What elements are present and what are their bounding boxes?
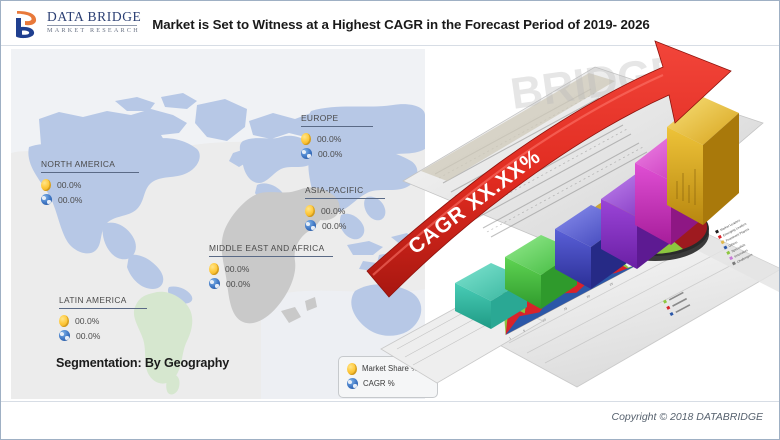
infographic-page: DATA BRIDGE MARKET RESEARCH Market is Se… <box>0 0 780 440</box>
map-label-middle-east-and-africa[interactable]: MIDDLE EAST AND AFRICA 00.0% 00.0% <box>209 243 333 292</box>
business-growth-graphic: BRIDGE 1510 152025 <box>363 31 780 411</box>
data-bridge-b-mark-icon <box>13 9 43 39</box>
region-market-share-value: 00.0% <box>321 206 345 216</box>
region-cagr-value: 00.0% <box>58 195 82 205</box>
region-market-share-row: 00.0% <box>41 178 139 191</box>
blue-globe-icon <box>305 220 316 231</box>
copyright-text: Copyright © 2018 DATABRIDGE <box>612 411 764 423</box>
brand-wordmark: DATA BRIDGE MARKET RESEARCH <box>47 10 139 35</box>
gold-coin-icon <box>59 315 69 327</box>
segmentation-label: Segmentation: By Geography <box>56 356 229 370</box>
region-cagr-row: 00.0% <box>59 329 147 342</box>
region-name: NORTH AMERICA <box>41 159 139 172</box>
gold-coin-icon <box>347 363 357 375</box>
region-market-share-value: 00.0% <box>225 264 249 274</box>
gold-coin-icon <box>41 179 51 191</box>
region-cagr-value: 00.0% <box>318 149 342 159</box>
region-market-share-value: 00.0% <box>317 134 341 144</box>
blue-globe-icon <box>41 194 52 205</box>
map-label-north-america[interactable]: NORTH AMERICA 00.0% 00.0% <box>41 159 139 208</box>
growth-illustration: BRIDGE 1510 152025 <box>363 31 780 411</box>
blue-globe-icon <box>301 148 312 159</box>
region-cagr-value: 00.0% <box>76 331 100 341</box>
gold-coin-icon <box>305 205 315 217</box>
brand-divider <box>47 25 137 26</box>
blue-globe-icon <box>59 330 70 341</box>
brand-logo[interactable]: DATA BRIDGE MARKET RESEARCH <box>13 7 138 41</box>
brand-tagline: MARKET RESEARCH <box>47 27 139 35</box>
brand-name: DATA BRIDGE <box>47 10 139 24</box>
region-cagr-row: 00.0% <box>209 277 333 290</box>
gold-coin-icon <box>209 263 219 275</box>
region-cagr-value: 00.0% <box>322 221 346 231</box>
blue-globe-icon <box>347 378 358 389</box>
region-name: MIDDLE EAST AND AFRICA <box>209 243 333 256</box>
blue-globe-icon <box>209 278 220 289</box>
region-market-share-row: 00.0% <box>209 262 333 275</box>
map-label-latin-america[interactable]: LATIN AMERICA 00.0% 00.0% <box>59 295 147 344</box>
footer-divider <box>1 401 779 402</box>
region-divider <box>209 256 333 257</box>
region-divider <box>41 172 139 173</box>
region-divider <box>59 308 147 309</box>
region-cagr-value: 00.0% <box>226 279 250 289</box>
page-title: Market is Set to Witness at a Highest CA… <box>141 17 661 32</box>
region-cagr-row: 00.0% <box>41 193 139 206</box>
region-market-share-value: 00.0% <box>57 180 81 190</box>
region-market-share-value: 00.0% <box>75 316 99 326</box>
gold-coin-icon <box>301 133 311 145</box>
region-name: LATIN AMERICA <box>59 295 147 308</box>
region-market-share-row: 00.0% <box>59 314 147 327</box>
